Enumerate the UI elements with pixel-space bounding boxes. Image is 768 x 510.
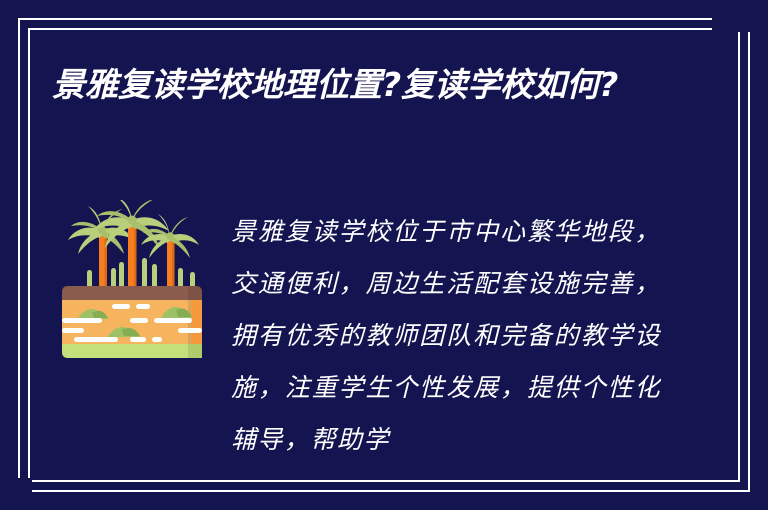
island-palm-icon	[56, 200, 208, 360]
frame-notch-top-right	[712, 16, 758, 32]
poster-canvas: 景雅复读学校地理位置?复读学校如何?	[0, 0, 768, 510]
page-title: 景雅复读学校地理位置?复读学校如何?	[52, 60, 672, 110]
tropical-island-illustration	[56, 200, 208, 360]
article-body-text: 景雅复读学校位于市中心繁华地段，交通便利，周边生活配套设施完善，拥有优秀的教师团…	[231, 206, 661, 468]
frame-notch-bottom-left	[16, 478, 32, 498]
